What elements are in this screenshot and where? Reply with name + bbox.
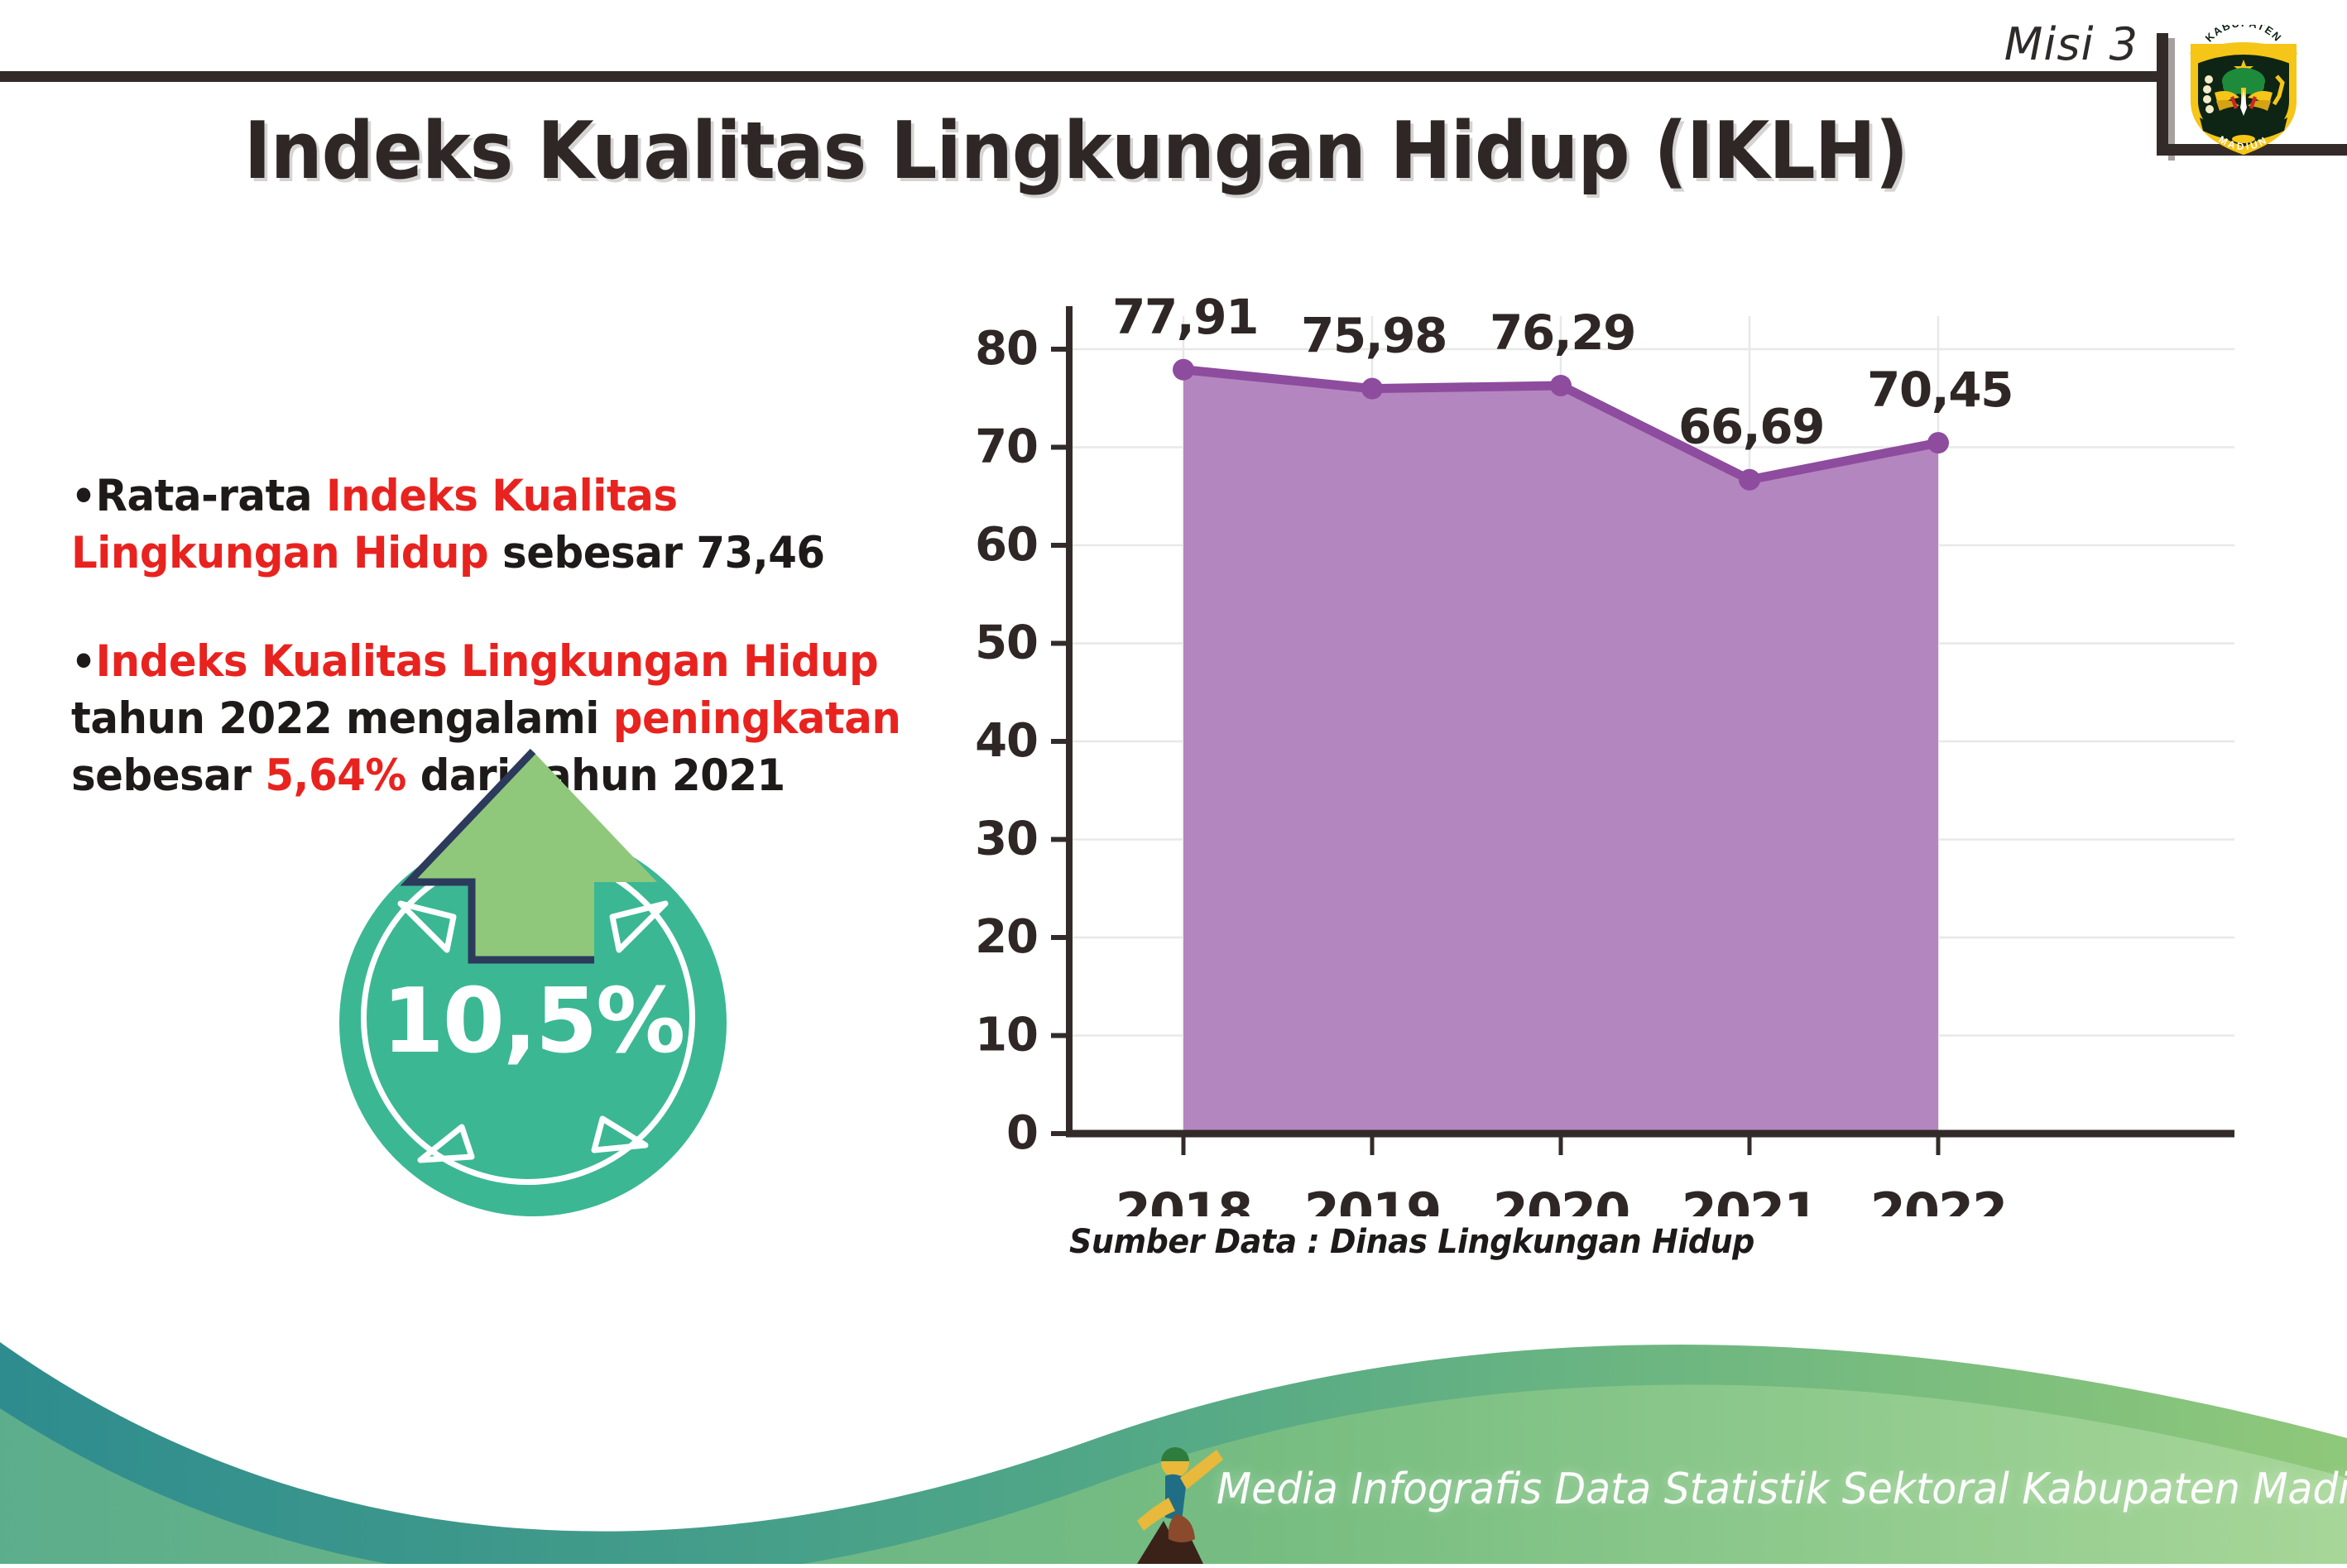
y-tick-label: 70 [975,420,1038,474]
y-tick-label: 60 [975,518,1038,572]
iklh-area-chart: 01020304050607080 20182019202020212022 7… [935,273,2292,1216]
y-tick-label: 20 [975,910,1038,964]
page-title: Indeks Kualitas Lingkungan Hidup (IKLH) [75,106,2076,197]
increase-badge: 10,5% [321,746,768,1210]
x-tick-label: 2019 [1304,1182,1441,1216]
chart-source-note: Sumber Data : Dinas Lingkungan Hidup [1069,1223,1754,1261]
bullet-item: •Rata-rata Indeks Kualitas Lingkungan Hi… [71,468,934,583]
bullet-text: sebesar 73,46 [488,528,824,578]
bullet-dot: • [71,638,96,686]
bullet-dot: • [71,472,96,520]
bullet-highlight-text: Indeks Kualitas Lingkungan Hidup [96,636,879,687]
bullet-text: Rata-rata [96,471,326,521]
kabupaten-madiun-logo-icon: KABUPATEN MADIUN [2181,25,2306,157]
x-tick-label: 2020 [1493,1182,1629,1216]
badge-percent-label: 10,5% [339,970,727,1073]
y-tick-label: 50 [975,616,1038,670]
x-tick-label: 2018 [1116,1182,1252,1216]
header-bracket-vertical [2157,33,2168,156]
data-point-label: 77,91 [1112,289,1258,345]
x-tick-label: 2021 [1682,1182,1818,1216]
svg-text:KABUPATEN: KABUPATEN [2203,25,2285,45]
data-point-label: 76,29 [1490,304,1635,361]
bullet-text: tahun 2022 mengalami [71,693,613,744]
misi-label: Misi 3 [2004,18,2138,70]
y-tick-label: 30 [975,813,1038,866]
bullet-highlight-text: peningkatan [613,693,901,744]
logo-top-text: KABUPATEN [2203,25,2285,45]
chart-area-series [1183,370,1938,1134]
bullet-text: sebesar [71,750,265,801]
footer-caption: Media Infografis Data Statistik Sektoral… [1217,1465,2347,1514]
y-tick-label: 0 [1006,1106,1038,1160]
chart-y-axis-labels: 01020304050607080 [975,322,1038,1160]
header-divider-rule [0,71,2160,82]
data-point-label: 66,69 [1678,399,1824,455]
y-tick-label: 10 [975,1009,1038,1062]
y-tick-label: 80 [975,322,1038,376]
y-tick-label: 40 [975,714,1038,768]
data-point-label: 70,45 [1867,362,2013,418]
data-point-label: 75,98 [1301,308,1447,364]
chart-x-axis-labels: 20182019202020212022 [1116,1182,2007,1216]
x-tick-label: 2022 [1870,1182,2007,1216]
